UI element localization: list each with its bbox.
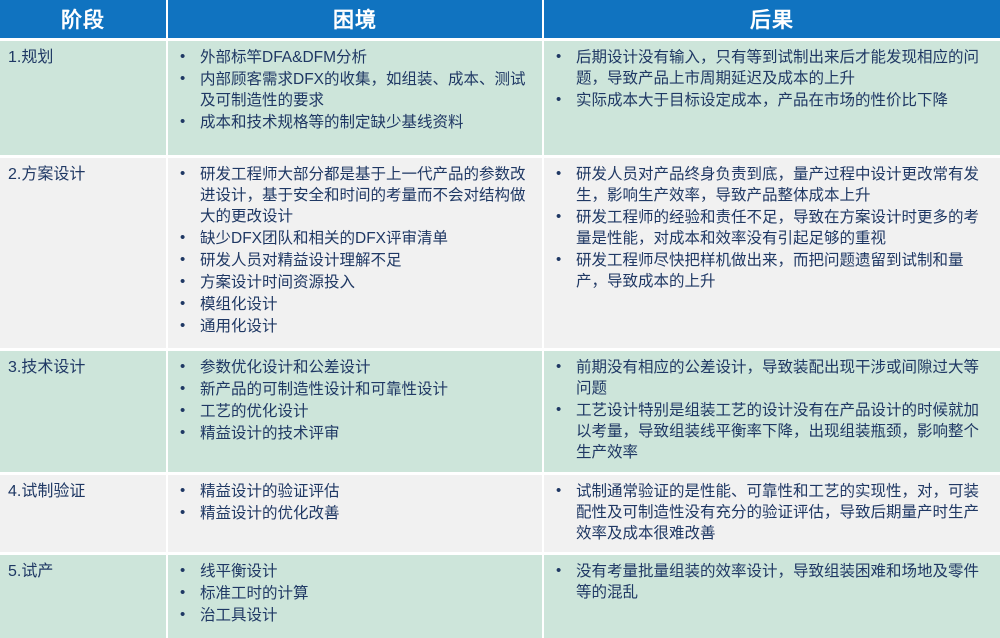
- list-item: 治工具设计: [174, 605, 534, 626]
- table-row: 1.规划 外部标竿DFA&DFM分析 内部顾客需求DFX的收集，如组装、成本、测…: [0, 41, 1000, 155]
- list-item: 精益设计的技术评审: [174, 423, 534, 444]
- stage-label: 2.方案设计: [8, 164, 158, 185]
- list-item: 工艺设计特别是组装工艺的设计没有在产品设计的时候就加以考量，导致组装线平衡率下降…: [550, 400, 992, 463]
- column-header-stage: 阶段: [0, 0, 166, 38]
- stage-cell: 3.技术设计: [0, 351, 166, 472]
- table-row: 5.试产 线平衡设计 标准工时的计算 治工具设计 没有考量批量组装的效率设计，导…: [0, 555, 1000, 638]
- list-item: 研发工程师的经验和责任不足，导致在方案设计时更多的考量是性能，对成本和效率没有引…: [550, 207, 992, 249]
- list-item: 精益设计的优化改善: [174, 503, 534, 524]
- column-header-consequence: 后果: [544, 0, 1000, 38]
- stage-label: 4.试制验证: [8, 481, 158, 502]
- dilemma-cell: 研发工程师大部分都是基于上一代产品的参数改进设计，基于安全和时间的考量而不会对结…: [168, 158, 542, 348]
- list-item: 工艺的优化设计: [174, 401, 534, 422]
- list-item: 新产品的可制造性设计和可靠性设计: [174, 379, 534, 400]
- consequence-list: 没有考量批量组装的效率设计，导致组装困难和场地及零件等的混乱: [550, 561, 992, 603]
- list-item: 外部标竿DFA&DFM分析: [174, 47, 534, 68]
- consequence-list: 前期没有相应的公差设计，导致装配出现干涉或间隙过大等问题 工艺设计特别是组装工艺…: [550, 357, 992, 463]
- list-item: 标准工时的计算: [174, 583, 534, 604]
- table-row: 2.方案设计 研发工程师大部分都是基于上一代产品的参数改进设计，基于安全和时间的…: [0, 158, 1000, 348]
- column-header-dilemma: 困境: [168, 0, 542, 38]
- list-item: 线平衡设计: [174, 561, 534, 582]
- stage-label: 5.试产: [8, 561, 158, 582]
- table-header-row: 阶段 困境 后果: [0, 0, 1000, 38]
- stage-cell: 2.方案设计: [0, 158, 166, 348]
- stage-cell: 5.试产: [0, 555, 166, 638]
- table-row: 3.技术设计 参数优化设计和公差设计 新产品的可制造性设计和可靠性设计 工艺的优…: [0, 351, 1000, 472]
- list-item: 实际成本大于目标设定成本，产品在市场的性价比下降: [550, 90, 992, 111]
- consequence-list: 试制通常验证的是性能、可靠性和工艺的实现性，对，可装配性及可制造性没有充分的验证…: [550, 481, 992, 544]
- consequence-cell: 试制通常验证的是性能、可靠性和工艺的实现性，对，可装配性及可制造性没有充分的验证…: [544, 475, 1000, 552]
- dilemma-list: 精益设计的验证评估 精益设计的优化改善: [174, 481, 534, 524]
- list-item: 内部顾客需求DFX的收集，如组装、成本、测试及可制造性的要求: [174, 69, 534, 111]
- stage-label: 3.技术设计: [8, 357, 158, 378]
- list-item: 试制通常验证的是性能、可靠性和工艺的实现性，对，可装配性及可制造性没有充分的验证…: [550, 481, 992, 544]
- dilemma-list: 线平衡设计 标准工时的计算 治工具设计: [174, 561, 534, 626]
- list-item: 研发工程师尽快把样机做出来，而把问题遗留到试制和量产，导致成本的上升: [550, 250, 992, 292]
- dilemma-list: 研发工程师大部分都是基于上一代产品的参数改进设计，基于安全和时间的考量而不会对结…: [174, 164, 534, 337]
- dilemma-cell: 参数优化设计和公差设计 新产品的可制造性设计和可靠性设计 工艺的优化设计 精益设…: [168, 351, 542, 472]
- list-item: 前期没有相应的公差设计，导致装配出现干涉或间隙过大等问题: [550, 357, 992, 399]
- list-item: 后期设计没有输入，只有等到试制出来后才能发现相应的问题，导致产品上市周期延迟及成…: [550, 47, 992, 89]
- consequence-cell: 没有考量批量组装的效率设计，导致组装困难和场地及零件等的混乱: [544, 555, 1000, 638]
- list-item: 研发工程师大部分都是基于上一代产品的参数改进设计，基于安全和时间的考量而不会对结…: [174, 164, 534, 227]
- list-item: 通用化设计: [174, 316, 534, 337]
- list-item: 参数优化设计和公差设计: [174, 357, 534, 378]
- list-item: 研发人员对产品终身负责到底，量产过程中设计更改常有发生，影响生产效率，导致产品整…: [550, 164, 992, 206]
- consequence-cell: 前期没有相应的公差设计，导致装配出现干涉或间隙过大等问题 工艺设计特别是组装工艺…: [544, 351, 1000, 472]
- stage-cell: 1.规划: [0, 41, 166, 155]
- dilemma-list: 参数优化设计和公差设计 新产品的可制造性设计和可靠性设计 工艺的优化设计 精益设…: [174, 357, 534, 444]
- dilemma-list: 外部标竿DFA&DFM分析 内部顾客需求DFX的收集，如组装、成本、测试及可制造…: [174, 47, 534, 133]
- list-item: 成本和技术规格等的制定缺少基线资料: [174, 112, 534, 133]
- list-item: 精益设计的验证评估: [174, 481, 534, 502]
- dilemma-cell: 外部标竿DFA&DFM分析 内部顾客需求DFX的收集，如组装、成本、测试及可制造…: [168, 41, 542, 155]
- stage-dilemma-consequence-table: 阶段 困境 后果 1.规划 外部标竿DFA&DFM分析 内部顾客需求DFX的收集…: [0, 0, 1000, 628]
- stage-cell: 4.试制验证: [0, 475, 166, 552]
- list-item: 研发人员对精益设计理解不足: [174, 250, 534, 271]
- consequence-list: 后期设计没有输入，只有等到试制出来后才能发现相应的问题，导致产品上市周期延迟及成…: [550, 47, 992, 111]
- consequence-cell: 后期设计没有输入，只有等到试制出来后才能发现相应的问题，导致产品上市周期延迟及成…: [544, 41, 1000, 155]
- list-item: 缺少DFX团队和相关的DFX评审清单: [174, 228, 534, 249]
- list-item: 模组化设计: [174, 294, 534, 315]
- table-body: 1.规划 外部标竿DFA&DFM分析 内部顾客需求DFX的收集，如组装、成本、测…: [0, 38, 1000, 638]
- consequence-cell: 研发人员对产品终身负责到底，量产过程中设计更改常有发生，影响生产效率，导致产品整…: [544, 158, 1000, 348]
- list-item: 没有考量批量组装的效率设计，导致组装困难和场地及零件等的混乱: [550, 561, 992, 603]
- list-item: 方案设计时间资源投入: [174, 272, 534, 293]
- dilemma-cell: 精益设计的验证评估 精益设计的优化改善: [168, 475, 542, 552]
- table-row: 4.试制验证 精益设计的验证评估 精益设计的优化改善 试制通常验证的是性能、可靠…: [0, 475, 1000, 552]
- stage-label: 1.规划: [8, 47, 158, 68]
- consequence-list: 研发人员对产品终身负责到底，量产过程中设计更改常有发生，影响生产效率，导致产品整…: [550, 164, 992, 292]
- dilemma-cell: 线平衡设计 标准工时的计算 治工具设计: [168, 555, 542, 638]
